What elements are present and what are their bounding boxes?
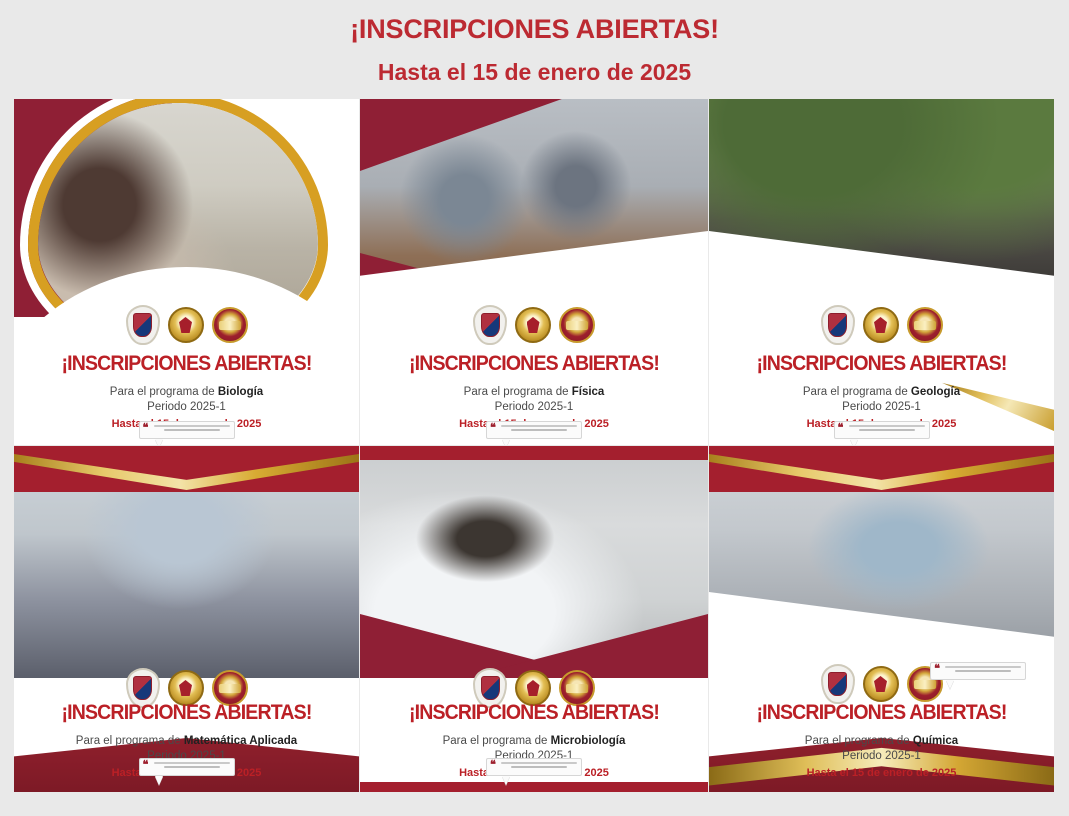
bubble-tail [850, 439, 858, 445]
card-headline: ¡INSCRIPCIONES ABIERTAS! [372, 701, 696, 725]
quote-icon: ❝ [490, 424, 495, 433]
caption-line [859, 429, 915, 431]
red-accreditation-seal-icon [907, 307, 943, 343]
promo-card-microbiologia[interactable]: ¡INSCRIPCIONES ABIERTAS! Para el program… [360, 446, 708, 792]
top-red-bar [360, 446, 708, 460]
caption-bubble: ❝ [139, 421, 235, 439]
caption-line [154, 762, 230, 764]
red-accreditation-seal-icon [212, 307, 248, 343]
card-program-line: Para el programa de Matemática Aplicada [14, 734, 359, 749]
university-shield-seal-icon [821, 305, 855, 345]
bubble-tail [155, 776, 163, 785]
quote-icon: ❝ [490, 761, 495, 770]
caption-line [501, 762, 577, 764]
bubble-tail [502, 439, 510, 445]
program-name: Matemática Aplicada [184, 735, 297, 747]
program-prefix: Para el programa de [803, 386, 911, 398]
card-photo-microbiologia [360, 446, 708, 678]
university-shield-seal-icon [126, 305, 160, 345]
program-name: Microbiología [551, 735, 626, 747]
caption-line [164, 766, 220, 768]
caption-line [154, 425, 230, 427]
card-headline: ¡INSCRIPCIONES ABIERTAS! [26, 352, 347, 376]
card-headline: ¡INSCRIPCIONES ABIERTAS! [372, 352, 696, 376]
quote-icon: ❝ [143, 761, 148, 770]
card-photo-biologia [14, 99, 359, 317]
bubble-tail [155, 439, 163, 445]
program-prefix: Para el programa de [110, 386, 218, 398]
caption-line [501, 425, 577, 427]
card-deadline: Hasta el 15 de enero de 2025 [709, 766, 1054, 781]
card-headline: ¡INSCRIPCIONES ABIERTAS! [721, 701, 1042, 725]
seal-row [14, 305, 359, 345]
footer-thin-band [360, 782, 708, 792]
promo-card-fisica[interactable]: ¡INSCRIPCIONES ABIERTAS! Para el program… [360, 99, 708, 445]
gold-accreditation-seal-icon [863, 307, 899, 343]
promo-card-grid: ¡INSCRIPCIONES ABIERTAS! Para el program… [14, 99, 1055, 792]
card-period: Periodo 2025-1 [709, 749, 1054, 764]
card-photo-fisica [360, 99, 708, 317]
caption-bubble: ❝ [930, 662, 1026, 680]
program-prefix: Para el programa de [443, 735, 551, 747]
card-period: Periodo 2025-1 [360, 400, 708, 415]
caption-box: ❝ [486, 758, 582, 776]
red-accreditation-seal-icon [559, 307, 595, 343]
caption-bubble: ❝ [834, 421, 930, 439]
caption-box: ❝ [139, 758, 235, 776]
promo-card-matematica-aplicada[interactable]: ¡INSCRIPCIONES ABIERTAS! Para el program… [14, 446, 359, 792]
bubble-tail [946, 680, 954, 689]
bubble-tail [502, 776, 510, 785]
university-shield-seal-icon [473, 305, 507, 345]
card-text-block: ¡INSCRIPCIONES ABIERTAS! Para el program… [360, 352, 708, 432]
card-headline: ¡INSCRIPCIONES ABIERTAS! [26, 701, 347, 725]
card-program-line: Para el programa de Geología [709, 385, 1054, 400]
promo-card-geologia[interactable]: ¡INSCRIPCIONES ABIERTAS! Para el program… [709, 99, 1054, 445]
card-period: Periodo 2025-1 [14, 400, 359, 415]
caption-bubble: ❝ [139, 758, 235, 776]
caption-line [511, 429, 567, 431]
caption-line [511, 766, 567, 768]
caption-box: ❝ [486, 421, 582, 439]
card-period: Periodo 2025-1 [709, 400, 1054, 415]
card-headline: ¡INSCRIPCIONES ABIERTAS! [721, 352, 1042, 376]
page-header: ¡INSCRIPCIONES ABIERTAS! Hasta el 15 de … [0, 0, 1069, 87]
quote-icon: ❝ [838, 424, 843, 433]
promo-card-quimica[interactable]: ❝ ¡INSCRIPCIONES ABIERTAS! Para el progr… [709, 446, 1054, 792]
caption-line [945, 666, 1021, 668]
caption-box: ❝ [139, 421, 235, 439]
card-text-block: ¡INSCRIPCIONES ABIERTAS! Para el program… [14, 352, 359, 432]
program-name: Biología [218, 386, 263, 398]
card-photo-quimica [709, 446, 1054, 678]
card-program-line: Para el programa de Física [360, 385, 708, 400]
caption-line [849, 425, 925, 427]
university-shield-seal-icon [821, 664, 855, 704]
program-name: Geología [911, 386, 960, 398]
caption-line [955, 670, 1011, 672]
card-program-line: Para el programa de Química [709, 734, 1054, 749]
gold-accreditation-seal-icon [515, 307, 551, 343]
card-program-line: Para el programa de Biología [14, 385, 359, 400]
page-title: ¡INSCRIPCIONES ABIERTAS! [0, 12, 1069, 46]
card-photo-geologia [709, 99, 1054, 317]
card-program-line: Para el programa de Microbiología [360, 734, 708, 749]
program-prefix: Para el programa de [805, 735, 913, 747]
card-photo-matematica-aplicada [14, 446, 359, 678]
program-name: Química [913, 735, 958, 747]
seal-row [360, 305, 708, 345]
caption-bubble: ❝ [486, 758, 582, 776]
quote-icon: ❝ [934, 665, 939, 674]
program-name: Física [572, 386, 605, 398]
program-prefix: Para el programa de [76, 735, 184, 747]
caption-line [164, 429, 220, 431]
gold-accreditation-seal-icon [168, 307, 204, 343]
program-prefix: Para el programa de [464, 386, 572, 398]
caption-bubble: ❝ [486, 421, 582, 439]
page-subtitle: Hasta el 15 de enero de 2025 [0, 57, 1069, 87]
quote-icon: ❝ [143, 424, 148, 433]
card-text-block: ¡INSCRIPCIONES ABIERTAS! Para el program… [709, 352, 1054, 432]
seal-row [709, 305, 1054, 345]
caption-box: ❝ [834, 421, 930, 439]
card-text-block: ¡INSCRIPCIONES ABIERTAS! Para el program… [709, 701, 1054, 781]
promo-card-biologia[interactable]: ¡INSCRIPCIONES ABIERTAS! Para el program… [14, 99, 359, 445]
caption-box: ❝ [930, 662, 1026, 680]
gold-accreditation-seal-icon [863, 666, 899, 702]
